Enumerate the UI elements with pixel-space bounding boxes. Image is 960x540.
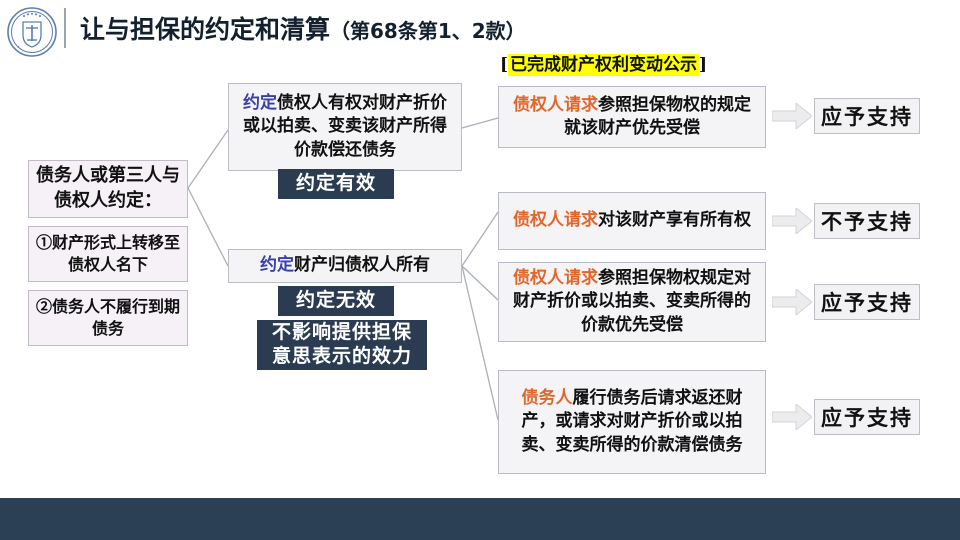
result-box-2: 不予支持 <box>814 203 920 239</box>
agreement-2-note: 不影响提供担保意思表示的效力 <box>257 320 427 370</box>
claim-box-3: 债权人请求参照担保物权规定对财产折价或以拍卖、变卖所得的价款优先受偿 <box>498 262 766 342</box>
block-arrow-right-icon-1 <box>772 103 812 129</box>
agreement-1-verdict: 约定有效 <box>278 169 394 199</box>
claim-2-keyword: 债权人请求 <box>513 210 598 230</box>
premise-item-2-text: ②债务人不履行到期债务 <box>35 296 181 340</box>
banner-text: 已完成财产权利变动公示 <box>508 54 699 76</box>
result-2-text: 不予支持 <box>821 206 913 236</box>
banner-close-bracket: ] <box>699 55 707 75</box>
claim-box-1: 债权人请求参照担保物权的规定就该财产优先受偿 <box>498 86 766 148</box>
result-box-1: 应予支持 <box>814 98 920 134</box>
page-title-sub: （第68条第1、2款） <box>330 19 526 43</box>
result-1-text: 应予支持 <box>821 101 913 131</box>
result-4-text: 应予支持 <box>821 402 913 432</box>
claim-1-keyword: 债权人请求 <box>513 95 598 115</box>
claim-box-4: 债务人履行债务后请求返还财产，或请求对财产折价或以拍卖、变卖所得的价款清偿债务 <box>498 370 766 474</box>
agreement-2-keyword: 约定 <box>260 255 294 275</box>
agreement-2-verdict-text: 约定无效 <box>296 289 376 313</box>
title-divider <box>64 8 66 48</box>
agreement-2-note-text: 不影响提供担保意思表示的效力 <box>263 321 421 369</box>
result-3-text: 应予支持 <box>821 287 913 317</box>
agreement-box-1: 约定债权人有权对财产折价或以拍卖、变卖该财产所得价款偿还债务 <box>228 83 462 171</box>
agreement-1-verdict-text: 约定有效 <box>296 172 376 196</box>
premise-item-1-text: ①财产形式上转移至债权人名下 <box>35 232 181 276</box>
premise-heading-text: 债务人或第三人与债权人约定： <box>35 164 181 214</box>
agreement-2-verdict: 约定无效 <box>278 286 394 316</box>
slide-canvas: 让与担保的约定和清算（第68条第1、2款） [已完成财产权利变动公示] 债务人或… <box>0 0 960 540</box>
status-banner: [已完成财产权利变动公示] <box>500 50 707 75</box>
block-arrow-right-icon-3 <box>772 289 812 315</box>
block-arrow-right-icon-4 <box>772 404 812 430</box>
court-emblem-icon <box>6 6 58 58</box>
page-title-main: 让与担保的约定和清算 <box>80 15 330 44</box>
agreement-2-text: 财产归债权人所有 <box>294 255 430 275</box>
claim-4-keyword: 债务人 <box>522 388 573 408</box>
claim-3-keyword: 债权人请求 <box>513 268 598 288</box>
claim-2-text: 对该财产享有所有权 <box>598 210 751 230</box>
result-box-3: 应予支持 <box>814 284 920 320</box>
claim-box-2: 债权人请求对该财产享有所有权 <box>498 192 766 250</box>
agreement-box-2: 约定财产归债权人所有 <box>228 249 462 283</box>
result-box-4: 应予支持 <box>814 399 920 435</box>
banner-open-bracket: [ <box>500 55 508 75</box>
page-title: 让与担保的约定和清算（第68条第1、2款） <box>80 10 526 46</box>
agreement-1-keyword: 约定 <box>243 93 277 113</box>
premise-item-2: ②债务人不履行到期债务 <box>28 290 188 346</box>
premise-heading-box: 债务人或第三人与债权人约定： <box>28 160 188 218</box>
footer-bar <box>0 498 960 540</box>
premise-item-1: ①财产形式上转移至债权人名下 <box>28 226 188 282</box>
block-arrow-right-icon-2 <box>772 208 812 234</box>
